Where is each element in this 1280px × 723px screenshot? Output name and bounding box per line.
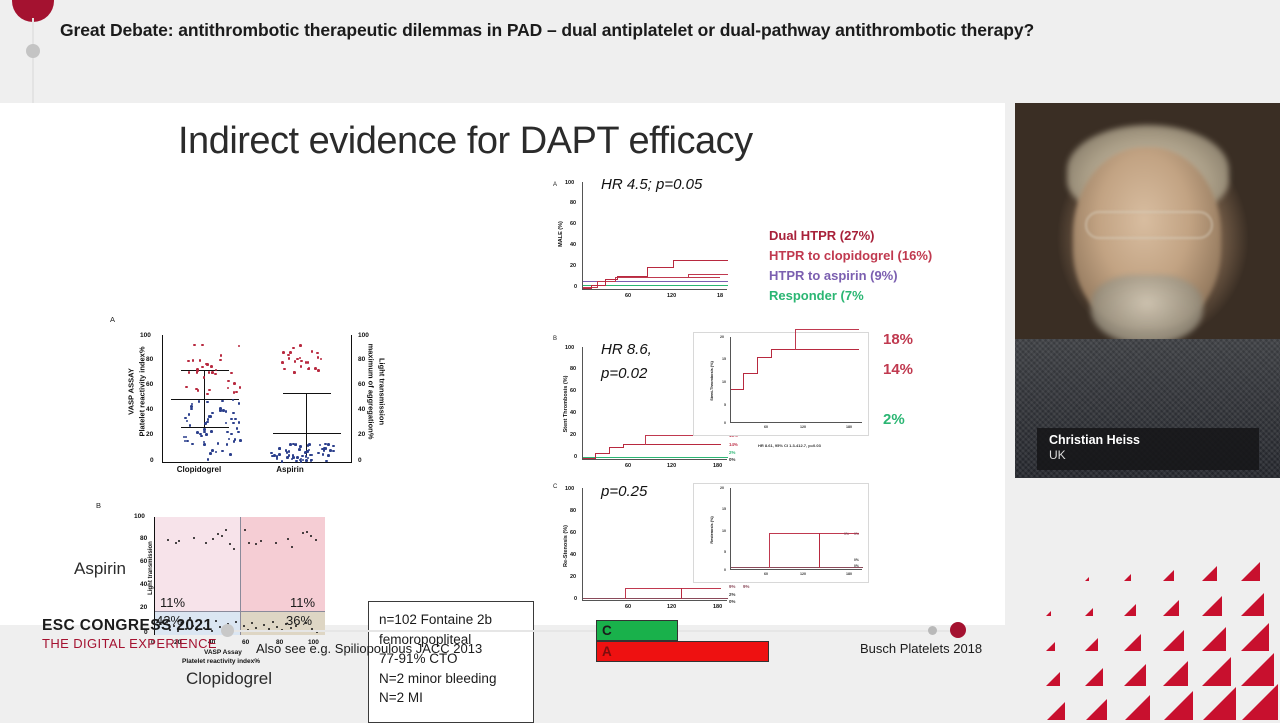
data-point	[332, 450, 335, 453]
km-b-stat-annotation: HR 8.61, 95% CI 1.3-412.7, p=0.03	[758, 443, 821, 448]
data-point	[276, 455, 279, 458]
data-point	[188, 413, 191, 416]
triangle-shape	[1202, 596, 1222, 616]
data-point	[215, 369, 218, 372]
data-point	[316, 352, 319, 355]
ytick-b-100: 100	[134, 513, 145, 520]
triangle-shape	[1046, 702, 1065, 720]
data-point	[234, 418, 237, 421]
ytick-80: 80	[146, 356, 153, 363]
data-point	[206, 393, 209, 396]
data-point	[281, 361, 284, 364]
km-c-inset-axes	[730, 488, 862, 570]
legend-dual-htpr: Dual HTPR (27%)	[769, 228, 874, 243]
data-point	[307, 457, 310, 460]
speaker-name: Christian Heiss	[1049, 433, 1247, 447]
triangle-shape	[1085, 608, 1093, 616]
ytick-40: 40	[146, 406, 153, 413]
km-b-inset-axes	[730, 337, 862, 423]
ytick-b-60: 60	[140, 558, 147, 565]
data-point	[293, 371, 296, 374]
data-point	[219, 409, 222, 412]
triangle-shape	[1202, 657, 1231, 686]
data-point	[210, 430, 213, 433]
quadrant-pct-lower-right: 36%	[286, 613, 312, 628]
ytick-b-40: 40	[140, 581, 147, 588]
axis-label-vasp-assay: VASP ASSAY	[127, 337, 136, 447]
data-point	[302, 459, 305, 462]
data-point	[276, 458, 279, 461]
data-point	[324, 443, 327, 446]
ytick-right-40: 40	[358, 406, 365, 413]
bar-c-letter: C	[602, 623, 612, 638]
data-point	[209, 452, 212, 455]
data-point	[232, 412, 235, 415]
data-point	[283, 368, 286, 371]
data-point	[219, 359, 222, 362]
esc-congress-logo: ESC CONGRESS 2021 THE DIGITAL EXPERIENCE	[42, 617, 217, 651]
info-line-5: N=2 MI	[379, 688, 523, 708]
triangle-shape	[1046, 672, 1060, 686]
km-c-ytick-0: 0	[574, 596, 577, 602]
data-point	[201, 366, 204, 369]
km-a-xtick-180: 18	[717, 293, 723, 299]
data-point	[292, 347, 295, 350]
axis-label-max-aggregation: maximum of aggregation%	[367, 337, 376, 447]
data-point	[327, 454, 330, 457]
km-a-ytick-100: 100	[565, 180, 574, 186]
data-point	[278, 453, 281, 456]
data-point	[332, 445, 335, 448]
data-point	[227, 387, 230, 390]
data-point	[230, 418, 233, 421]
km-a-yaxis-label: MALE (%)	[558, 209, 564, 259]
ytick-20: 20	[146, 431, 153, 438]
data-point	[196, 431, 199, 434]
data-point	[204, 422, 207, 425]
triangle-shape	[1046, 642, 1055, 651]
data-point	[205, 433, 208, 436]
ytick-right-60: 60	[358, 381, 365, 388]
data-point	[271, 455, 274, 458]
data-point	[304, 451, 307, 454]
ytick-60: 60	[146, 381, 153, 388]
km-b-series-14pct	[623, 444, 721, 445]
triangle-shape	[1163, 630, 1184, 651]
data-point	[230, 433, 233, 436]
info-line-4: N=2 minor bleeding	[379, 669, 523, 689]
legend-responder: Responder (7%	[769, 288, 864, 303]
km-a-ytick-20: 20	[570, 263, 576, 269]
xaxis-label-platelet-reactivity: Platelet reactivity index%	[182, 658, 260, 665]
km-c-yaxis-label: Re-Stenosis (%)	[563, 511, 569, 581]
panel-letter-b: B	[96, 501, 101, 510]
data-point	[221, 400, 224, 403]
bar-a-letter: A	[602, 644, 612, 659]
data-point	[310, 459, 313, 462]
km-a-axes	[582, 182, 727, 290]
axis-title-aspirin: Aspirin	[74, 559, 126, 579]
data-point	[236, 427, 239, 430]
ytick-b-80: 80	[140, 535, 147, 542]
data-point	[211, 449, 214, 452]
data-point	[207, 418, 210, 421]
triangle-shape	[1124, 695, 1150, 720]
km-c-ytick-60: 60	[570, 530, 576, 536]
chart-km-panel-a: A 100 80 60 40 20 0 MALE (%)	[553, 179, 993, 311]
km-c-xtick-60: 60	[625, 604, 631, 610]
data-point	[292, 454, 295, 457]
data-point	[237, 431, 240, 434]
data-point	[317, 452, 320, 455]
km-c-inset-label-0b: 0%	[854, 564, 859, 568]
data-point	[199, 359, 202, 362]
data-point	[188, 371, 191, 374]
data-point	[301, 455, 304, 458]
km-c-p-annotation: p=0.25	[601, 483, 647, 500]
legend-htpr-aspirin: HTPR to aspirin (9%)	[769, 268, 898, 283]
data-point	[233, 382, 236, 385]
slide-canvas: Indirect evidence for DAPT efficacy A VA…	[0, 103, 1005, 625]
data-point	[228, 438, 231, 441]
data-point	[289, 351, 292, 354]
slide-title: Indirect evidence for DAPT efficacy	[178, 120, 753, 163]
data-point	[192, 359, 195, 362]
ytick-right-20: 20	[358, 431, 365, 438]
data-point	[308, 367, 311, 370]
data-point	[311, 350, 314, 353]
speaker-location: UK	[1049, 448, 1247, 462]
footer-timeline-line	[228, 630, 960, 632]
km-b-series-responder	[583, 457, 728, 458]
data-point	[229, 453, 232, 456]
km-a-xtick-120: 120	[667, 293, 676, 299]
data-point	[215, 451, 218, 454]
km-b-ytick-60: 60	[570, 388, 576, 394]
km-a-hr-annotation: HR 4.5; p=0.05	[601, 176, 702, 193]
quadrant-pct-upper-left: 11%	[160, 595, 185, 610]
km-b-ytick-100: 100	[565, 345, 574, 351]
study-info-box: n=102 Fontaine 2b femoropopliteal 77-91%…	[368, 601, 534, 723]
data-point	[187, 360, 190, 363]
data-point	[317, 369, 320, 372]
km-c-ytick-100: 100	[565, 486, 574, 492]
data-point	[203, 431, 206, 434]
data-point	[220, 354, 223, 357]
xtick-b-60: 60	[242, 639, 249, 646]
data-point	[201, 344, 204, 347]
km-c-inline-9b: 9%	[743, 584, 749, 589]
triangle-shape	[1241, 623, 1269, 651]
data-point	[232, 399, 235, 402]
data-point	[186, 440, 189, 443]
km-b-ytick-20: 20	[570, 432, 576, 438]
data-point	[311, 454, 314, 457]
data-point	[232, 422, 235, 425]
data-point	[291, 458, 294, 461]
info-line-1: n=102 Fontaine 2b	[379, 610, 523, 630]
triangle-shape	[1202, 566, 1217, 581]
data-point	[238, 402, 241, 405]
presentation-header: Great Debate: antithrombotic therapeutic…	[0, 0, 1010, 103]
km-b-ytick-80: 80	[570, 366, 576, 372]
data-point	[230, 372, 233, 375]
ytick-0: 0	[150, 457, 154, 464]
data-point	[207, 458, 210, 461]
data-point	[299, 445, 302, 448]
data-point	[325, 447, 328, 450]
footer-timeline-dot-active[interactable]	[950, 622, 966, 638]
data-point	[279, 448, 282, 451]
data-point	[226, 443, 229, 446]
km-a-ytick-80: 80	[570, 200, 576, 206]
km-c-inline-2: 2%	[729, 592, 735, 597]
data-point	[198, 400, 201, 403]
panel-letter-km-c: C	[553, 484, 557, 490]
data-point	[320, 358, 323, 361]
data-point	[287, 354, 290, 357]
panel-letter-km-a: A	[553, 182, 557, 188]
km-b-xtick-120: 120	[667, 463, 676, 469]
data-point	[221, 450, 224, 453]
data-point	[299, 357, 302, 360]
data-point	[200, 435, 203, 438]
dotplot-axes-frame	[162, 335, 352, 463]
data-point	[185, 386, 188, 389]
triangle-pattern-decoration	[1046, 546, 1280, 720]
km-c-inset: 20 15 10 5 0 Restenosis (%) 9% 9% 0% 0% …	[693, 483, 869, 583]
data-point	[209, 415, 212, 418]
data-point	[239, 386, 242, 389]
triangle-shape	[1241, 593, 1264, 616]
data-point	[239, 439, 242, 442]
bar-label-a: A	[596, 641, 769, 662]
data-point	[190, 408, 193, 411]
km-b-inline-14: 14%	[729, 442, 738, 447]
km-c-ytick-40: 40	[570, 552, 576, 558]
km-c-series-9pct	[625, 588, 721, 589]
speaker-video-tile[interactable]: Christian Heiss UK	[1015, 103, 1280, 478]
data-point	[281, 460, 284, 463]
km-a-ytick-60: 60	[570, 221, 576, 227]
km-a-series-dual-htpr	[673, 260, 728, 261]
x-cutoff-divider	[240, 517, 241, 635]
data-point	[190, 405, 193, 408]
data-point	[208, 389, 211, 392]
triangle-shape	[1163, 661, 1188, 686]
chart-km-panel-c: C 100 80 60 40 20 0 Re-Stenosis (%) 9% 9…	[553, 481, 993, 621]
speaker-beard	[1091, 275, 1203, 345]
chart-km-panel-b: B 100 80 60 40 20 0 Stent Thrombosis (%)…	[553, 333, 993, 483]
triangle-shape	[1163, 600, 1179, 616]
quadrant-pct-upper-right: 11%	[290, 595, 315, 610]
triangle-shape	[1241, 562, 1260, 581]
axis-title-clopidogrel: Clopidogrel	[186, 669, 272, 689]
data-point	[288, 450, 291, 453]
data-point	[307, 361, 310, 364]
timeline-dot	[26, 44, 40, 58]
data-point	[238, 345, 241, 348]
data-point	[235, 391, 238, 394]
triangle-shape	[1241, 653, 1274, 686]
data-point	[300, 460, 303, 463]
glasses-icon	[1085, 211, 1213, 239]
data-point	[227, 380, 230, 383]
triangle-shape	[1085, 699, 1107, 720]
data-point	[323, 449, 326, 452]
panel-letter-a: A	[110, 315, 115, 324]
ytick-b-20: 20	[140, 604, 147, 611]
km-c-inset-label-9b: 9%	[854, 532, 859, 536]
panel-letter-km-b: B	[553, 336, 557, 342]
data-point	[288, 357, 291, 360]
speaker-nameplate: Christian Heiss UK	[1037, 428, 1259, 470]
data-point	[222, 409, 225, 412]
triangle-shape	[1124, 664, 1146, 686]
km-b-xtick-60: 60	[625, 463, 631, 469]
triangle-shape	[1124, 604, 1136, 616]
km-b-ytick-40: 40	[570, 410, 576, 416]
data-point	[208, 371, 211, 374]
triangle-shape	[1085, 638, 1098, 651]
km-c-inline-0: 0%	[729, 599, 735, 604]
triangle-shape	[1046, 611, 1051, 616]
km-b-ytick-0: 0	[574, 454, 577, 460]
triangle-shape	[1085, 668, 1103, 686]
triangle-shape	[1124, 634, 1141, 651]
km-b-inset-ylabel: Stent-Thrombosis (%)	[710, 352, 714, 410]
km-b-inline-2: 2%	[729, 450, 735, 455]
chart-quadrant-scatter-panel-b: B Aspirin Clopidogrel Light transmission…	[78, 501, 378, 691]
triangle-shape	[1202, 687, 1236, 720]
km-c-inline-9a: 9%	[729, 584, 735, 589]
data-point	[286, 451, 289, 454]
data-point	[300, 360, 303, 363]
km-b-xtick-180: 180	[713, 463, 722, 469]
km-b-callout-2: 2%	[883, 411, 905, 428]
data-point	[226, 431, 229, 434]
triangle-shape	[1241, 684, 1278, 720]
group-label-aspirin: Aspirin	[250, 465, 330, 474]
esc-logo-line2: THE DIGITAL EXPERIENCE	[42, 636, 217, 651]
km-b-hr-annotation-line2: p=0.02	[601, 365, 647, 382]
data-point	[327, 443, 330, 446]
km-b-inline-0: 0%	[729, 457, 735, 462]
data-point	[225, 410, 228, 413]
km-c-inset-label-9: 9%	[844, 532, 849, 536]
data-point	[298, 448, 301, 451]
data-point	[186, 420, 189, 423]
km-c-xtick-120: 120	[667, 604, 676, 610]
data-point	[214, 373, 217, 376]
data-point	[322, 453, 325, 456]
triangle-shape	[1085, 577, 1089, 581]
km-b-callout-14: 14%	[883, 361, 913, 378]
group-label-clopidogrel: Clopidogrel	[156, 465, 242, 474]
data-point	[295, 460, 298, 463]
km-c-inset-ylabel: Restenosis (%)	[710, 503, 714, 557]
triangle-shape	[1163, 691, 1193, 720]
data-point	[286, 456, 289, 459]
km-c-series-base	[583, 598, 728, 599]
data-point	[210, 365, 213, 368]
data-point	[185, 436, 188, 439]
footer-timeline-dot-small[interactable]	[928, 626, 937, 635]
data-point	[203, 376, 206, 379]
ytick-100: 100	[140, 332, 151, 339]
citation-left: Also see e.g. Spiliopoulous JACC 2013	[256, 641, 482, 656]
data-point	[191, 443, 194, 446]
legend-htpr-clopidogrel: HTPR to clopidogrel (16%)	[769, 248, 932, 263]
page-title: Great Debate: antithrombotic therapeutic…	[60, 18, 1035, 43]
data-point	[299, 344, 302, 347]
data-point	[305, 361, 308, 364]
km-c-ytick-20: 20	[570, 574, 576, 580]
data-point	[238, 421, 241, 424]
data-point	[270, 452, 273, 455]
data-point	[294, 360, 297, 363]
data-point	[225, 422, 228, 425]
bar-label-c: C	[596, 620, 678, 641]
triangle-shape	[1202, 627, 1226, 651]
triangle-shape	[1124, 574, 1131, 581]
data-point	[206, 401, 209, 404]
data-point	[300, 365, 303, 368]
data-point	[319, 444, 322, 447]
footer-timeline-dot-left[interactable]	[221, 624, 234, 637]
data-point	[211, 412, 214, 415]
km-b-yaxis-label: Stent Thrombosis (%)	[563, 365, 569, 443]
esc-logo-line1: ESC CONGRESS 2021	[42, 617, 217, 635]
data-point	[193, 344, 196, 347]
km-c-inset-label-0: 0%	[854, 558, 859, 562]
data-point	[289, 443, 292, 446]
citation-right: Busch Platelets 2018	[860, 641, 982, 656]
km-c-ytick-80: 80	[570, 508, 576, 514]
axis-label-platelet-reactivity: Platelet reactivity index%	[138, 337, 147, 447]
data-point	[305, 459, 308, 462]
ytick-right-100: 100	[358, 332, 369, 339]
km-b-inset: 20 15 10 5 0 Stent-Thrombosis (%) 60 120…	[693, 332, 869, 436]
data-point	[203, 443, 206, 446]
data-point	[234, 438, 237, 441]
data-point	[217, 442, 220, 445]
axis-label-light-transmission: Light transmission	[378, 337, 387, 447]
ytick-right-80: 80	[358, 356, 365, 363]
km-a-ytick-40: 40	[570, 242, 576, 248]
km-c-xtick-180: 180	[713, 604, 722, 610]
data-point	[282, 351, 285, 354]
km-a-ytick-0: 0	[574, 284, 577, 290]
data-point	[308, 449, 311, 452]
km-b-hr-annotation-line1: HR 8.6,	[601, 341, 652, 358]
chart-dotplot-panel-a: A VASP ASSAY Platelet reactivity index% …	[100, 315, 390, 493]
data-point	[184, 417, 187, 420]
data-point	[325, 460, 328, 463]
triangle-shape	[1163, 570, 1174, 581]
timeline-vertical-line	[32, 18, 34, 103]
km-b-callout-18: 18%	[883, 331, 913, 348]
ytick-right-0: 0	[358, 457, 362, 464]
km-a-xtick-60: 60	[625, 293, 631, 299]
